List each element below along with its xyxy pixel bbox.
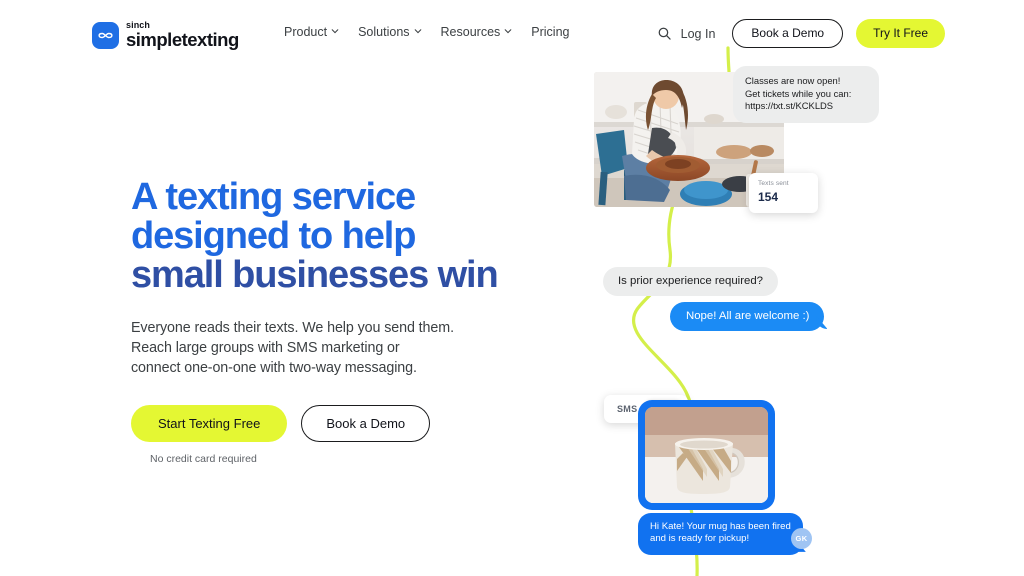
message-bubble-answer: Nope! All are welcome :)	[670, 302, 824, 331]
bubble-bottom-line-1: Hi Kate! Your mug has been fired	[650, 521, 791, 533]
hero-cta-row: Start Texting Free Book a Demo	[131, 405, 551, 442]
no-credit-card-note: No credit card required	[150, 453, 551, 465]
nav-item-resources[interactable]: Resources	[441, 25, 513, 39]
sinch-link-icon	[92, 22, 119, 49]
texts-sent-value: 154	[758, 190, 809, 204]
hero-content: A texting service designed to help small…	[131, 178, 551, 465]
page-title: A texting service designed to help small…	[131, 178, 551, 295]
logo-product-name: simpletexting	[126, 31, 239, 49]
nav-item-pricing[interactable]: Pricing	[531, 25, 569, 39]
headline-line-1: A texting service	[131, 178, 551, 217]
nav-label-solutions: Solutions	[358, 25, 409, 39]
mms-image-card	[638, 400, 775, 510]
search-icon[interactable]	[657, 26, 672, 41]
hero-subtext-line-2: Reach large groups with SMS marketing or	[131, 338, 551, 358]
headline-line-2: designed to help	[131, 217, 551, 256]
chevron-down-icon	[331, 27, 339, 35]
nav-item-solutions[interactable]: Solutions	[358, 25, 421, 39]
nav-label-resources: Resources	[441, 25, 501, 39]
chevron-down-icon	[414, 27, 422, 35]
avatar: GK	[791, 528, 812, 549]
logo[interactable]: sinch simpletexting	[92, 21, 239, 50]
bubble-top-line-1: Classes are now open!	[745, 75, 867, 88]
main-nav: Product Solutions Resources Pricing	[284, 25, 570, 39]
hero-illustration: Classes are now open! Get tickets while …	[560, 40, 1024, 576]
nav-label-product: Product	[284, 25, 327, 39]
headline-line-3: small businesses win	[131, 256, 551, 295]
landing-page: sinch simpletexting Product Solutions Re…	[0, 0, 1024, 576]
bubble-top-line-3: https://txt.st/KCKLDS	[745, 100, 867, 113]
book-demo-button-hero[interactable]: Book a Demo	[301, 405, 430, 442]
nav-label-pricing: Pricing	[531, 25, 569, 39]
message-bubble-question: Is prior experience required?	[603, 267, 778, 296]
bubble-bottom-line-2: and is ready for pickup!	[650, 533, 791, 545]
texts-sent-label: Texts sent	[758, 180, 809, 187]
mug-photo	[645, 407, 768, 503]
start-texting-free-button[interactable]: Start Texting Free	[131, 405, 287, 442]
message-bubble-classes-open: Classes are now open! Get tickets while …	[733, 66, 879, 123]
chevron-down-icon	[504, 27, 512, 35]
hero-subtext-line-3: connect one-on-one with two-way messagin…	[131, 358, 551, 378]
login-link[interactable]: Log In	[681, 27, 716, 41]
bubble-top-line-2: Get tickets while you can:	[745, 88, 867, 101]
message-bubble-mug-ready: Hi Kate! Your mug has been fired and is …	[638, 513, 803, 555]
hero-subtext-line-1: Everyone reads their texts. We help you …	[131, 318, 551, 338]
nav-item-product[interactable]: Product	[284, 25, 339, 39]
hero-subtext: Everyone reads their texts. We help you …	[131, 318, 551, 378]
texts-sent-stat-card: Texts sent 154	[749, 173, 818, 213]
